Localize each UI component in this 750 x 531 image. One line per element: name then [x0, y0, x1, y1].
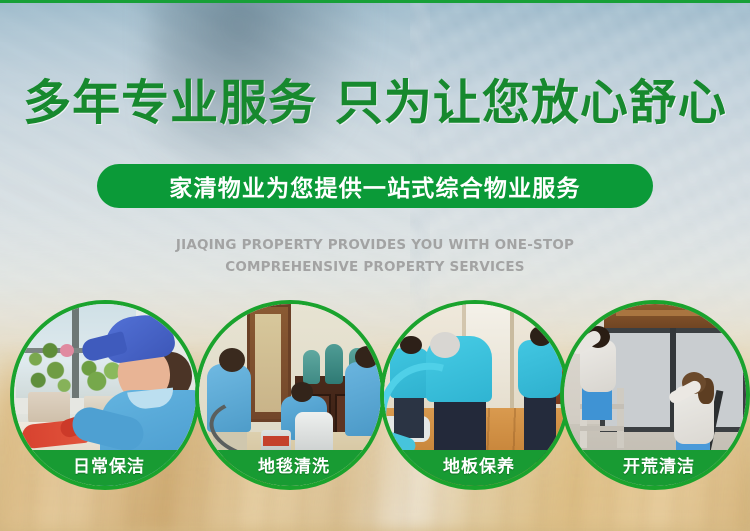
- english-subtitle-line1: JIAQING PROPERTY PROVIDES YOU WITH ONE-S…: [0, 234, 750, 256]
- service-label-floor-maintenance: 地板保养: [384, 452, 570, 477]
- service-item-post-construction-cleaning[interactable]: 开荒清洁: [560, 300, 750, 490]
- service-label-carpet-cleaning: 地毯清洗: [199, 452, 385, 477]
- tagline-text: 家清物业为您提供一站式综合物业服务: [169, 169, 580, 203]
- tagline-banner: 家清物业为您提供一站式综合物业服务: [97, 164, 653, 208]
- service-item-daily-cleaning[interactable]: 日常保洁: [10, 300, 200, 490]
- top-rule: [0, 0, 750, 3]
- service-photo-frame: 开荒清洁: [560, 300, 750, 490]
- service-item-floor-maintenance[interactable]: 地板保养: [380, 300, 570, 490]
- service-item-carpet-cleaning[interactable]: 地毯清洗: [195, 300, 385, 490]
- promo-banner: 多年专业服务 只为让您放心舒心 家清物业为您提供一站式综合物业服务 JIAQIN…: [0, 0, 750, 531]
- english-subtitle-line2: COMPREHENSIVE PROPERTY SERVICES: [0, 256, 750, 278]
- service-photo-frame: 地毯清洗: [195, 300, 385, 490]
- service-label-post-construction-cleaning: 开荒清洁: [564, 452, 750, 477]
- service-photo-frame: 地板保养: [380, 300, 570, 490]
- page-title: 多年专业服务 只为让您放心舒心: [0, 79, 750, 127]
- service-label-daily-cleaning: 日常保洁: [14, 452, 200, 477]
- english-subtitle: JIAQING PROPERTY PROVIDES YOU WITH ONE-S…: [0, 234, 750, 278]
- service-circle-row: 日常保洁: [0, 298, 750, 498]
- service-photo-frame: 日常保洁: [10, 300, 200, 490]
